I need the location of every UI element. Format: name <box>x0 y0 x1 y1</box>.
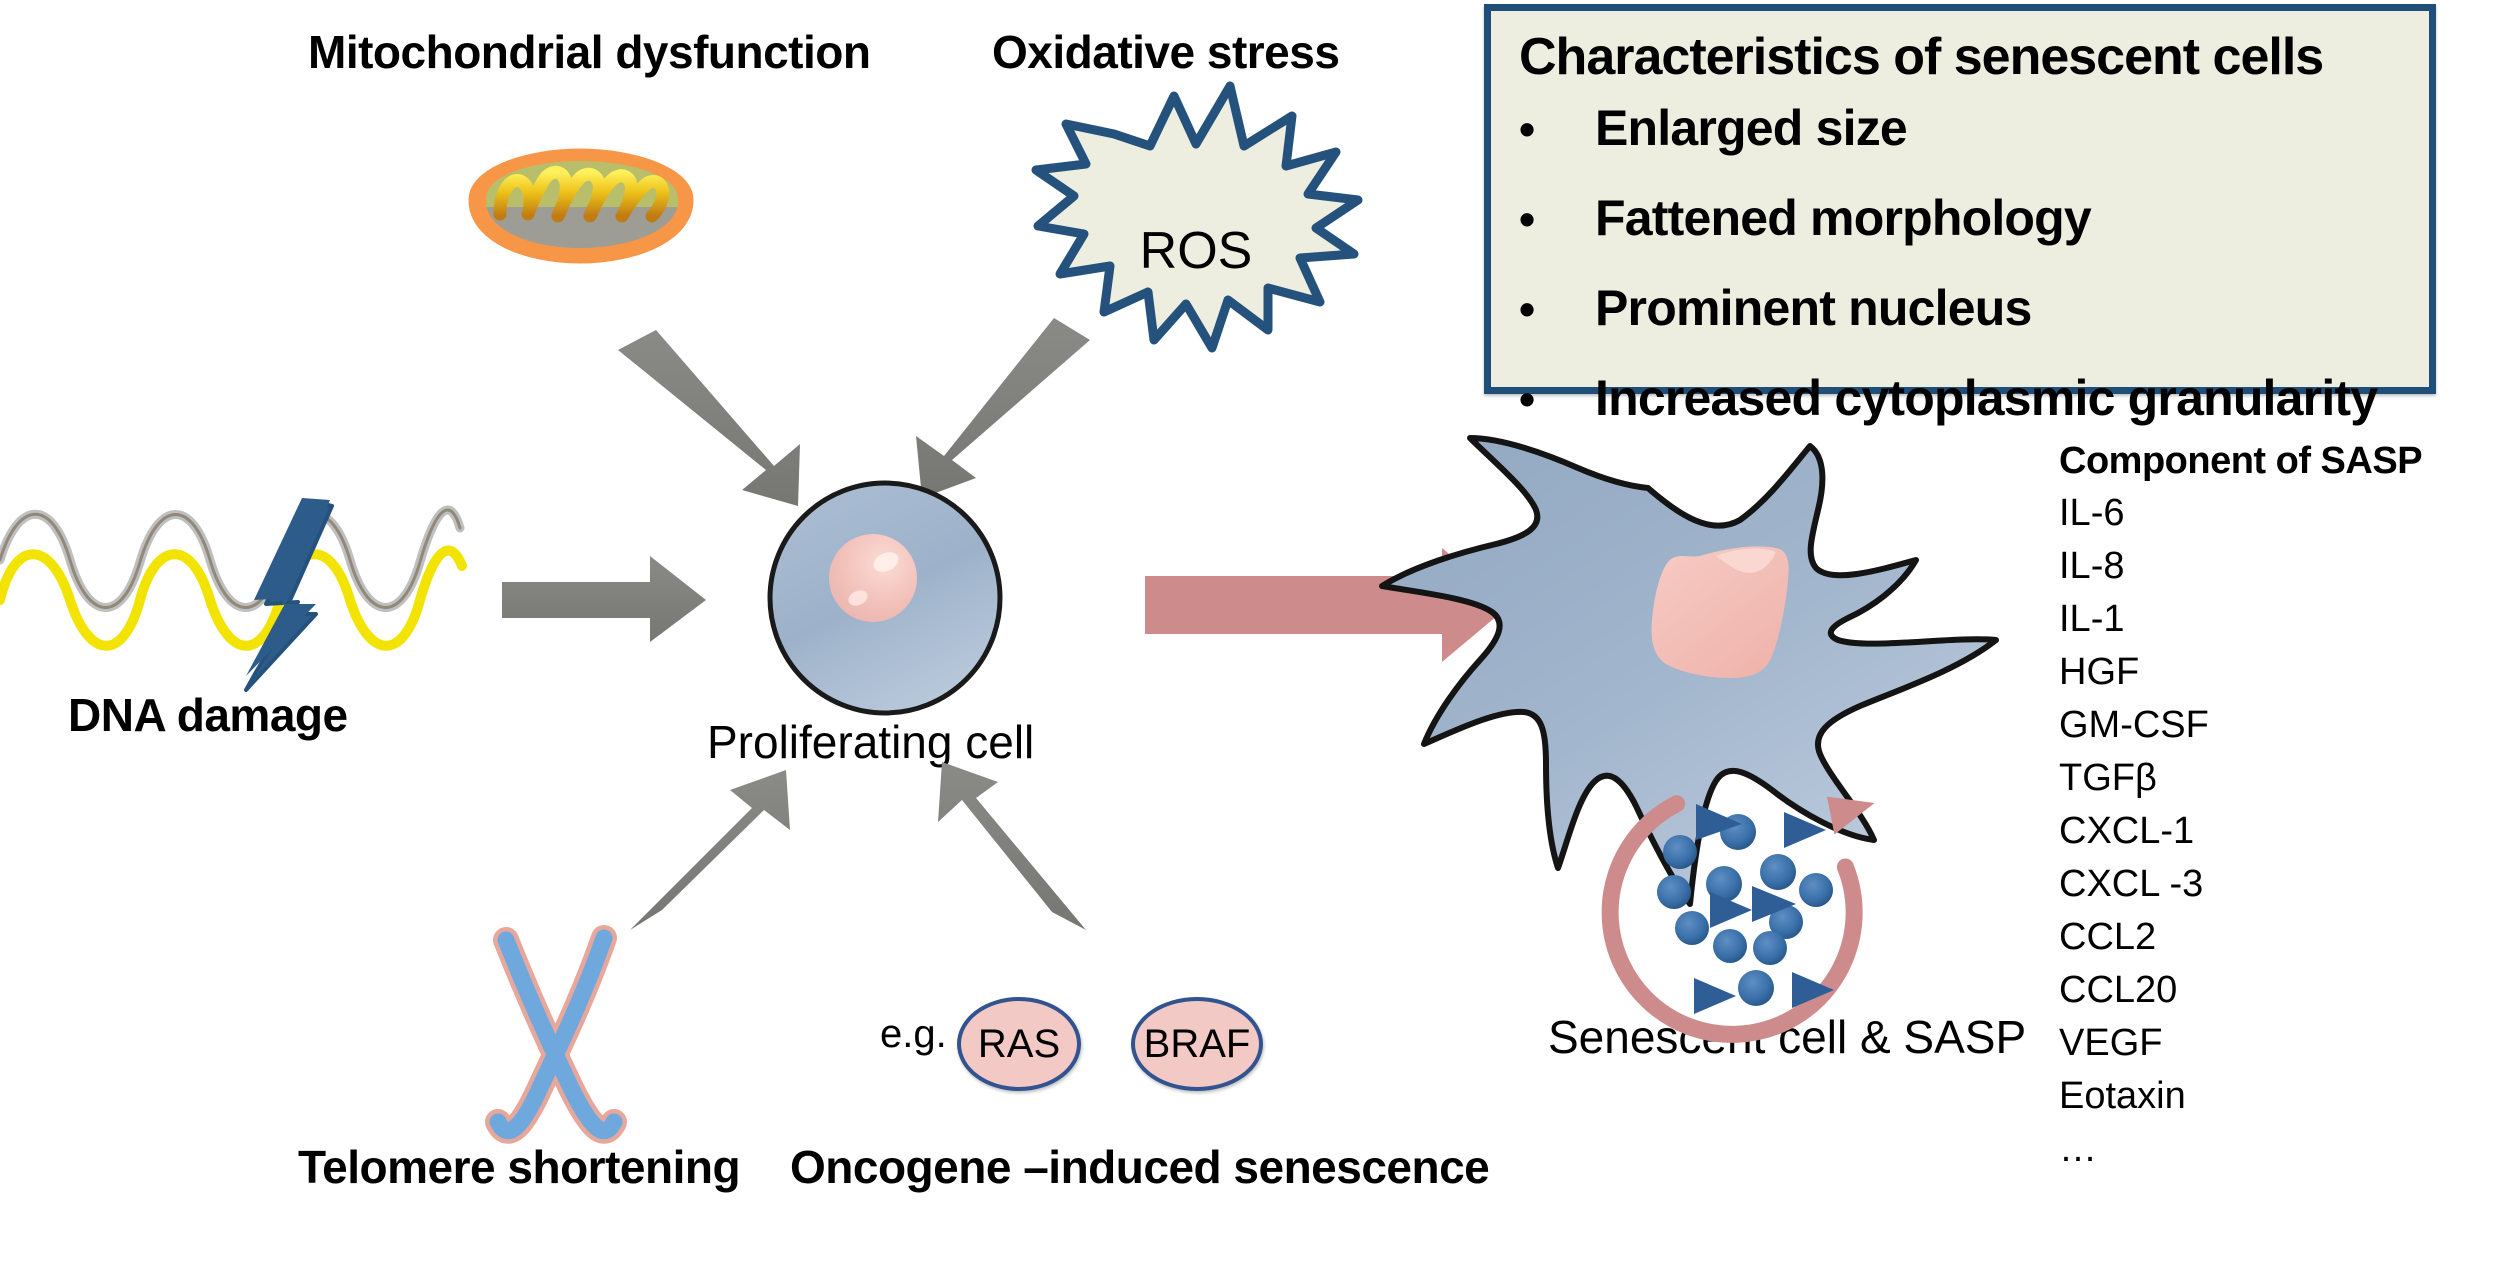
chromosome-icon <box>498 938 614 1131</box>
ros-burst-icon: ROS <box>1036 86 1358 348</box>
arrow-ros-to-cell <box>916 318 1090 498</box>
diagram-canvas: Characteristics of senescent cells • Enl… <box>0 0 2500 1273</box>
proliferating-cell-icon <box>770 483 1000 713</box>
arrow-telomere-to-cell <box>630 770 790 930</box>
dna-helix-icon <box>0 498 462 690</box>
ros-label: ROS <box>1140 222 1253 280</box>
arrow-dna-to-cell <box>502 556 706 642</box>
mitochondrion-icon <box>470 150 692 262</box>
senescent-cell-icon <box>1382 438 1996 904</box>
arrow-mitochondria-to-cell <box>618 330 800 506</box>
sasp-secretion-icon <box>1578 793 1874 1066</box>
graphics-layer: ROS <box>0 0 2500 1273</box>
arrow-oncogene-to-cell <box>938 762 1086 930</box>
